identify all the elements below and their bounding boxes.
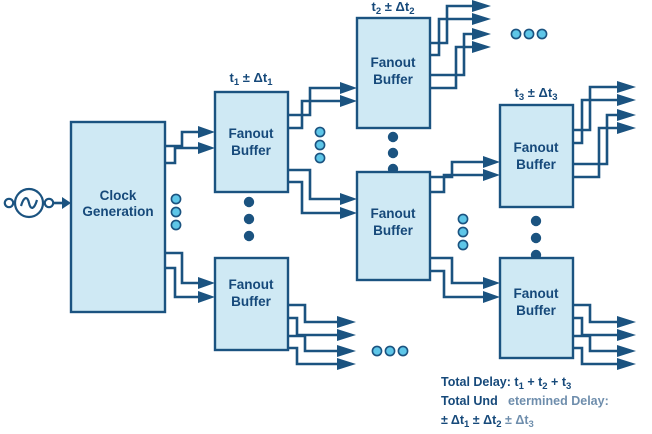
dot-light: [372, 346, 381, 355]
caption-total-delay: Total Delay: t1 + t2 + t3: [441, 375, 571, 392]
caption-undetermined-terms: ± Δt1 ± Δt2 ± Δt3: [441, 413, 534, 430]
fanout-buffer-bottom-right-label-line1: Fanout: [514, 286, 559, 301]
dot-light: [458, 240, 467, 249]
dot-light: [171, 220, 180, 229]
dot-light: [458, 214, 467, 223]
wires-bottomleft-outputs: [288, 305, 356, 370]
arrowhead-t1-in1: [198, 126, 215, 138]
diagram-canvas: Clock Generation Fanout Buffer t1 ± Δt1: [0, 0, 652, 434]
dot-dark: [388, 148, 398, 158]
arrowhead-t2-in2: [340, 95, 357, 107]
caption-total-undetermined-delay-prefix: Total Und: [441, 394, 498, 408]
wires-t3-outputs: [573, 81, 636, 177]
arrowhead-br-in1: [483, 277, 500, 289]
arrowhead-t3-in2: [483, 169, 500, 181]
block-fanout-buffer-bottom-left[interactable]: Fanout Buffer: [215, 258, 288, 350]
arrowhead-t2-out3: [472, 28, 491, 40]
arrowhead-clockgen-input: [62, 197, 71, 209]
dot-light: [458, 227, 467, 236]
fanout-buffer-bottom-left-label-line1: Fanout: [229, 277, 274, 292]
dot-light: [385, 346, 394, 355]
wires-bottomright-outputs: [573, 305, 636, 370]
dot-dark: [388, 132, 398, 142]
ellipsis-bottomleft-out: [372, 346, 407, 355]
arrowhead-t3-in1: [483, 156, 500, 168]
arrowhead-t2-out1: [472, 0, 491, 12]
clock-generation-label-line1: Clock: [100, 188, 137, 203]
ellipsis-middle-outputs: [458, 214, 467, 249]
caption-total-undetermined-delay-rest: etermined Delay:: [508, 394, 609, 408]
arrowhead-t1-in2: [198, 142, 215, 154]
fanout-buffer-bottom-left-label-line2: Buffer: [231, 294, 271, 309]
dot-dark: [244, 214, 254, 224]
wires-t2-outputs: [430, 0, 491, 88]
ellipsis-t2-column: [388, 132, 398, 174]
arrowhead-t3-out1: [617, 81, 636, 93]
fanout-buffer-t1-label-line1: Fanout: [229, 126, 274, 141]
arrowhead-t2-out2: [472, 13, 491, 25]
wires-t1-to-middle: [288, 170, 357, 219]
fanout-buffer-middle-label-line1: Fanout: [371, 206, 416, 221]
dot-light: [171, 194, 180, 203]
clock-tree-diagram: Clock Generation Fanout Buffer t1 ± Δt1: [0, 0, 652, 434]
tag-label-t3: t3 ± Δt3: [515, 85, 558, 103]
sine-wave-icon: [21, 198, 37, 208]
arrowhead-t3-out2: [617, 94, 636, 106]
oscillator-terminal-right: [45, 199, 53, 207]
block-clock-generation[interactable]: Clock Generation: [71, 122, 165, 312]
arrowhead-bl-out4: [337, 358, 356, 370]
block-fanout-buffer-t3[interactable]: Fanout Buffer: [500, 105, 573, 207]
arrowhead-t2-in1: [340, 82, 357, 94]
fanout-buffer-t3-label-line1: Fanout: [514, 140, 559, 155]
wires-clockgen-to-t1: [165, 126, 215, 163]
wire-t1-out4: [288, 182, 349, 213]
dot-light: [171, 207, 180, 216]
dot-light: [315, 127, 324, 136]
ellipsis-clockgen-outputs: [171, 194, 180, 229]
dot-light: [398, 346, 407, 355]
fanout-buffer-t1-label-line2: Buffer: [231, 143, 271, 158]
dot-dark: [531, 216, 541, 226]
delay-caption: Total Delay: t1 + t2 + t3 Total Und eter…: [441, 375, 609, 430]
tag-label-t2: t2 ± Δt2: [372, 0, 415, 17]
arrowhead-bl-out3: [337, 345, 356, 357]
fanout-buffer-t3-label-line2: Buffer: [516, 157, 556, 172]
arrowhead-bl-out1: [337, 316, 356, 328]
fanout-buffer-t1-box[interactable]: [215, 92, 288, 192]
block-fanout-buffer-bottom-right[interactable]: Fanout Buffer: [500, 258, 573, 358]
tag-label-t1: t1 ± Δt1: [230, 70, 274, 88]
wire-bl-out2: [288, 318, 345, 335]
fanout-buffer-bottom-right-label-line2: Buffer: [516, 303, 556, 318]
wire-t1-out3: [288, 170, 349, 199]
block-fanout-buffer-middle[interactable]: Fanout Buffer: [357, 172, 430, 280]
arrowhead-bl-out2: [337, 329, 356, 341]
fanout-buffer-t2-label-line2: Buffer: [373, 72, 413, 87]
dot-light: [537, 29, 546, 38]
dot-light: [524, 29, 533, 38]
dot-light: [315, 153, 324, 162]
arrowhead-t3-out3: [617, 109, 636, 121]
fanout-buffer-middle-label-line2: Buffer: [373, 223, 413, 238]
ellipsis-t3-column: [531, 216, 541, 260]
arrowhead-t3-out4: [617, 122, 636, 134]
wire-t2-out4: [430, 47, 480, 88]
arrowhead-br-in2: [483, 291, 500, 303]
oscillator-symbol: [5, 189, 71, 217]
clock-generation-label-line2: Generation: [82, 204, 153, 219]
arrowhead-t2-out4: [472, 41, 491, 53]
oscillator-terminal-left: [5, 199, 13, 207]
arrowhead-mid-in2: [340, 207, 357, 219]
arrowhead-br-out3: [617, 345, 636, 357]
dot-dark: [244, 197, 254, 207]
dot-dark: [244, 231, 254, 241]
ellipsis-t1-column: [244, 197, 254, 241]
fanout-buffer-t2-label-line1: Fanout: [371, 55, 416, 70]
block-fanout-buffer-t1[interactable]: Fanout Buffer: [215, 92, 288, 192]
ellipsis-t2-outputs: [511, 29, 546, 38]
wires-middle-to-t3: [430, 156, 500, 192]
arrowhead-bl-in2: [198, 291, 215, 303]
fanout-buffer-t3-box[interactable]: [500, 105, 573, 207]
ellipsis-t1-outputs: [315, 127, 324, 162]
dot-light: [511, 29, 520, 38]
arrowhead-br-out1: [617, 316, 636, 328]
arrowhead-bl-in1: [198, 277, 215, 289]
arrowhead-br-out2: [617, 329, 636, 341]
arrowhead-mid-in1: [340, 193, 357, 205]
dot-dark: [531, 233, 541, 243]
dot-light: [315, 140, 324, 149]
wires-clockgen-to-bottomleft: [165, 253, 215, 303]
wires-t1-to-t2: [288, 82, 357, 128]
wires-middle-to-bottomright: [430, 258, 500, 303]
arrowhead-br-out4: [617, 358, 636, 370]
block-fanout-buffer-t2[interactable]: Fanout Buffer: [357, 18, 430, 128]
